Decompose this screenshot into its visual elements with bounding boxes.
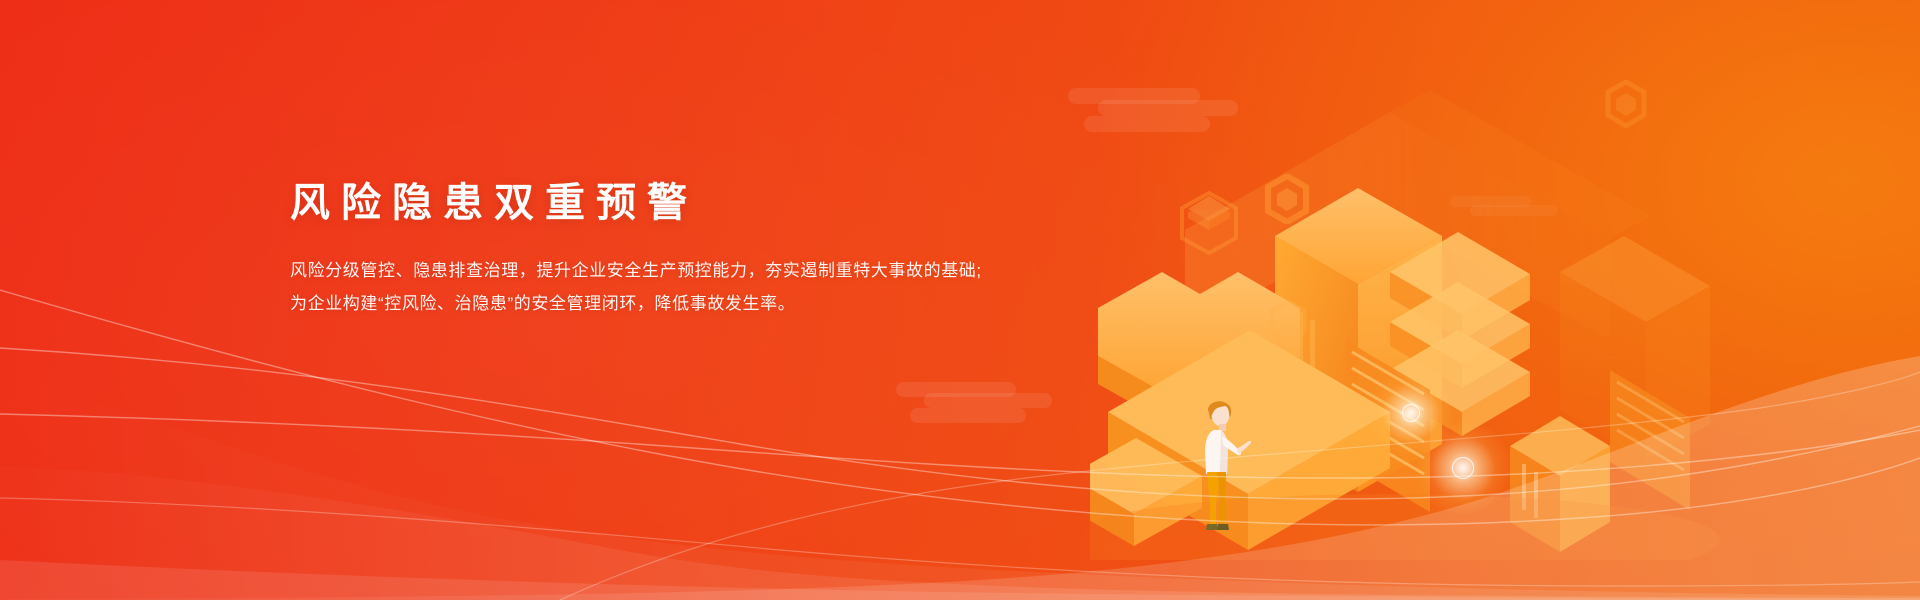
cloud-bar — [1098, 100, 1238, 116]
page-title: 风险隐患双重预警 — [290, 178, 1050, 228]
cloud-bar — [1084, 116, 1210, 132]
subtitle-line-1: 风险分级管控、隐患排查治理，提升企业安全生产预控能力，夯实遏制重特大事故的基础; — [290, 254, 1050, 287]
cube-3d-icon — [1178, 190, 1240, 256]
cloud-ornament-top — [1068, 88, 1268, 136]
subtitle-line-2: 为企业构建“控风险、治隐患”的安全管理闭环，降低事故发生率。 — [290, 287, 1050, 320]
cloud-bar — [1470, 205, 1558, 216]
hero-banner: 风险隐患双重预警 风险分级管控、隐患排查治理，提升企业安全生产预控能力，夯实遏制… — [0, 0, 1920, 600]
hexagon-outline-icon — [1264, 174, 1310, 224]
cloud-ornament-lower — [1450, 196, 1570, 226]
page-subtitle: 风险分级管控、隐患排查治理，提升企业安全生产预控能力，夯实遏制重特大事故的基础;… — [290, 254, 1050, 320]
hero-text-block: 风险隐患双重预警 风险分级管控、隐患排查治理，提升企业安全生产预控能力，夯实遏制… — [290, 178, 1050, 320]
hexagon-outline-icon — [1604, 80, 1648, 128]
